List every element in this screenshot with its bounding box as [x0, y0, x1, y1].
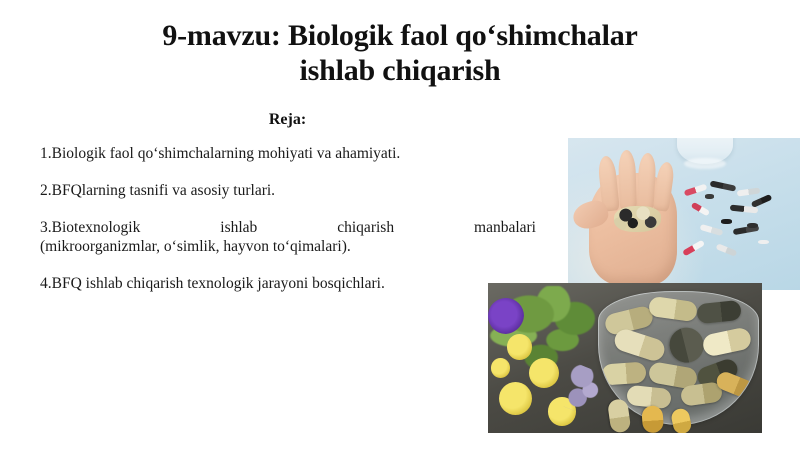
capsule-shape: [682, 240, 705, 256]
agenda-item-4: 4.BFQ ishlab chiqarish texnologik jarayo…: [40, 274, 536, 294]
yellow-flower-shape: [507, 334, 532, 360]
capsule-shape: [702, 326, 753, 358]
herbal-capsules-bowl-photo: [488, 283, 762, 433]
agenda-item-3-line-1: 3.Biotexnologik ishlab chiqarish manbala…: [40, 218, 536, 238]
loose-capsule-shape: [641, 405, 664, 433]
violet-flower-shape: [488, 298, 524, 334]
capsule-shape: [716, 244, 737, 257]
capsule-shape: [700, 223, 724, 235]
capsule-shape: [691, 202, 710, 216]
page-title-line-1: 9-mavzu: Biologik faol qoʻshimchalar: [162, 19, 637, 52]
agenda-item-3: 3.Biotexnologik ishlab chiqarish manbala…: [40, 218, 536, 258]
yellow-flower-shape: [529, 358, 559, 388]
agenda-item-2: 2.BFQlarning tasnifi va asosiy turlari.: [40, 181, 536, 201]
agenda-item-3-line-2: (mikroorganizmlar, oʻsimlik, hayvon toʻq…: [40, 237, 536, 257]
page-title-line-2: ishlab chiqarish: [299, 54, 500, 87]
capsule-shape: [684, 183, 708, 196]
pills-in-palm-shape: [614, 206, 660, 232]
capsule-shape: [626, 384, 672, 408]
capsule-shape: [612, 326, 667, 363]
capsule-shape: [751, 194, 772, 208]
capsule-shape: [737, 187, 761, 196]
pills-in-hand-photo: [568, 138, 800, 290]
capsule-shape: [665, 325, 707, 367]
page-title: 9-mavzu: Biologik faol qoʻshimchalar ish…: [60, 18, 740, 88]
pill-shape: [721, 219, 731, 224]
yellow-flower-shape: [491, 358, 510, 378]
capsule-shape: [696, 300, 742, 324]
capsule-shape: [648, 296, 698, 322]
plan-heading: Reja:: [40, 110, 535, 129]
slide-canvas: 9-mavzu: Biologik faol qoʻshimchalar ish…: [0, 0, 800, 449]
capsule-shape: [709, 181, 735, 192]
agenda-list: 1.Biologik faol qoʻshimchalarning mohiya…: [40, 144, 536, 311]
agenda-item-1: 1.Biologik faol qoʻshimchalarning mohiya…: [40, 144, 536, 164]
pill-shape: [758, 240, 768, 245]
pill-shape: [747, 223, 759, 228]
scattered-pills-group: [675, 178, 791, 272]
yellow-flower-shape: [499, 382, 532, 415]
pill-shape: [705, 194, 714, 198]
capsule-shape: [601, 361, 647, 385]
